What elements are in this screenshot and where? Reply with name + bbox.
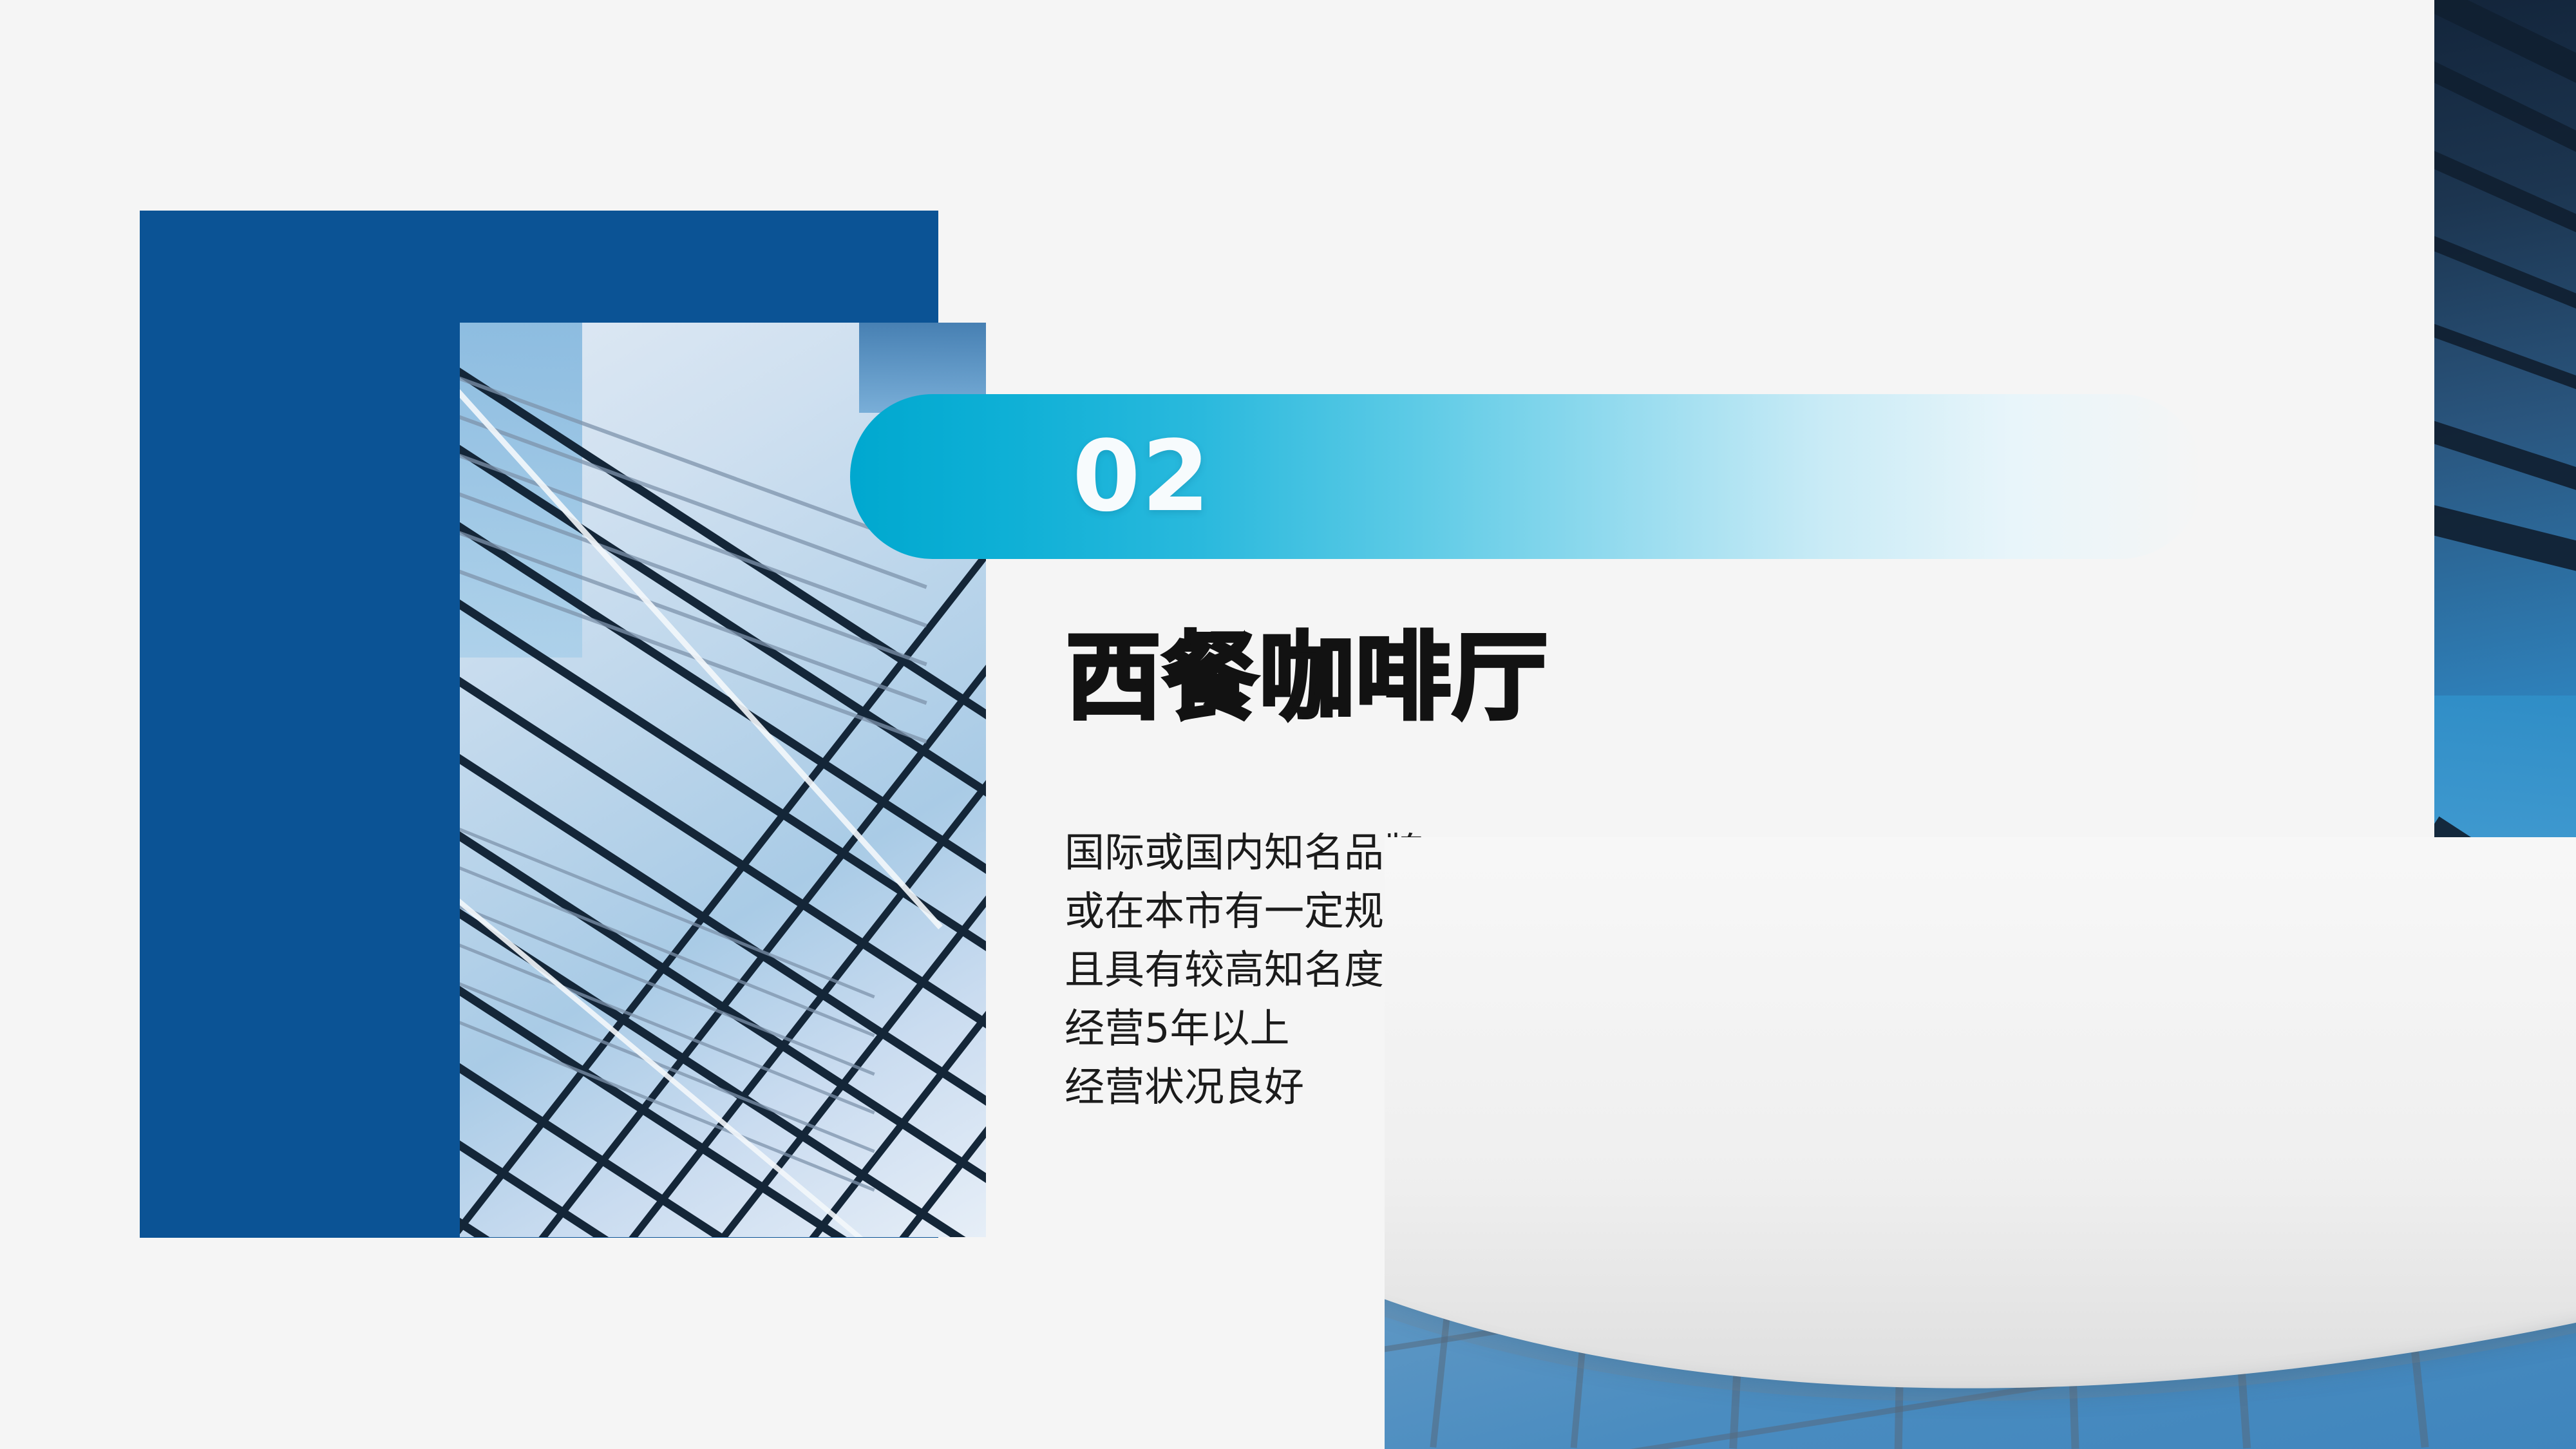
curl-grid-5 — [2050, 837, 2079, 1449]
section-number-bar: 02 — [850, 394, 2202, 559]
right-edge-photo-strip — [2434, 0, 2576, 1449]
body-paragraph: 国际或国内知名品牌 或在本市有一定规模的西餐、咖啡实体店 且具有较高知名度 经营… — [1065, 823, 1783, 1116]
curl-grid-6 — [2201, 838, 2251, 1449]
beam-5 — [2434, 314, 2576, 421]
mullion-b7 — [949, 527, 986, 1237]
curl-grid-7 — [2357, 838, 2429, 1448]
beam-4 — [2434, 225, 2576, 342]
body-line-2: 或在本市有一定规模的西餐、咖啡实体店 — [1065, 882, 1783, 940]
beam-6 — [2434, 408, 2576, 516]
section-number: 02 — [1072, 428, 1211, 526]
body-line-1: 国际或国内知名品牌 — [1065, 823, 1783, 882]
curl-grid-h3 — [1385, 1285, 2576, 1449]
mullion-a6 — [460, 670, 986, 1237]
mullion-a9 — [460, 902, 986, 1237]
mullion-a12 — [460, 1134, 986, 1237]
slide-canvas: 02 西餐咖啡厅 国际或国内知名品牌 或在本市有一定规模的西餐、咖啡实体店 且具… — [0, 0, 2576, 1449]
page-title: 西餐咖啡厅 — [1066, 628, 1549, 728]
body-line-4: 经营5年以上 — [1065, 999, 1783, 1057]
beam-7 — [2434, 494, 2576, 591]
curl-grid-h2 — [1385, 1144, 2576, 1361]
body-line-3: 且具有较高知名度 — [1065, 940, 1783, 999]
curl-grid-4 — [1895, 837, 1913, 1449]
body-line-5: 经营状况良好 — [1065, 1057, 1783, 1116]
